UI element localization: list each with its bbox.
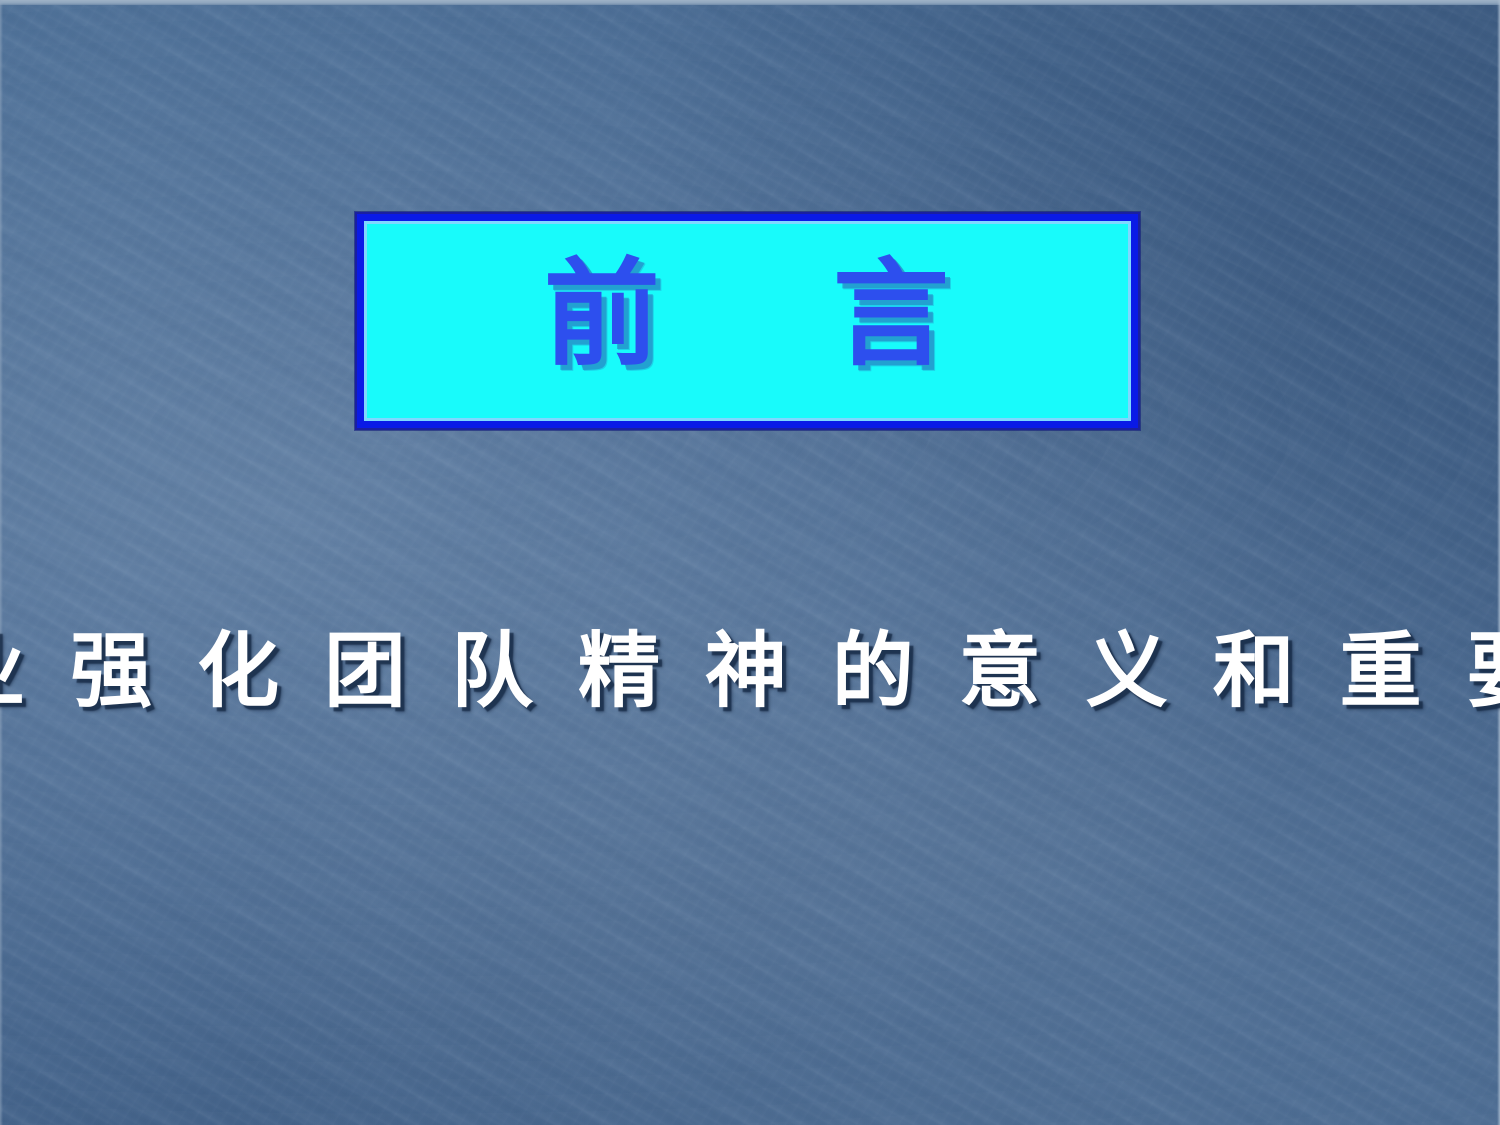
title-banner-inner: 前 言 bbox=[364, 221, 1131, 421]
slide-top-edge-line bbox=[0, 0, 1500, 5]
subtitle-container: 企 业 强 化 团 队 精 神 的 意 义 和 重 要 性 bbox=[0, 612, 1500, 732]
slide-background-texture-overlay bbox=[0, 0, 1500, 1125]
title-banner-box: 前 言 bbox=[355, 212, 1140, 430]
slide-title: 前 言 bbox=[544, 257, 951, 373]
presentation-slide: 前 言 企 业 强 化 团 队 精 神 的 意 义 和 重 要 性 bbox=[0, 0, 1500, 1125]
slide-background-texture bbox=[0, 0, 1500, 1125]
slide-left-edge-line bbox=[0, 0, 3, 1125]
slide-subtitle: 企 业 强 化 团 队 精 神 的 意 义 和 重 要 性 bbox=[0, 631, 1500, 713]
slide-background-tone bbox=[0, 0, 1500, 1125]
